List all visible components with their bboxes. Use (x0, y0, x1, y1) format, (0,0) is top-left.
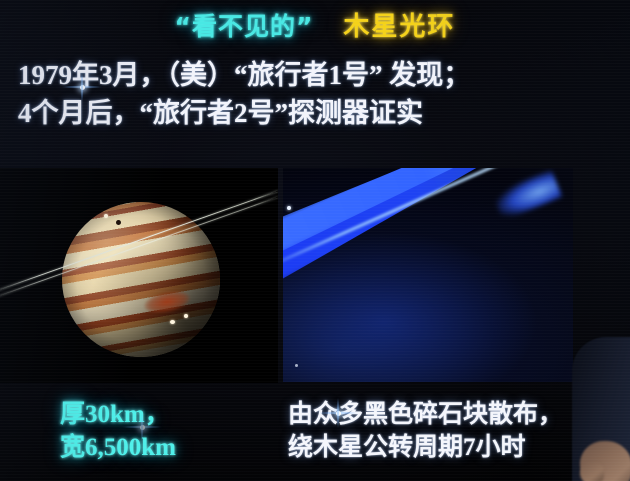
cloud-highlight-dot-3 (184, 314, 188, 318)
jupiter-caption: 厚30km， 宽6,500km (60, 398, 176, 464)
ring-far-tip (492, 169, 563, 221)
body-line-2: 4个月后，“旅行者2号”探测器证实 (18, 94, 618, 132)
slide-title: “看不见的”木星光环 (0, 6, 630, 43)
jupiter-caption-line-2: 宽6,500km (60, 431, 176, 464)
cloud-highlight-dot-2 (170, 320, 175, 324)
title-main-segment: 木星光环 (343, 12, 455, 42)
presentation-slide: “看不见的”木星光环 1979年3月，（美）“旅行者1号” 发现； 4个月后，“… (0, 0, 630, 481)
background-star-2 (295, 364, 298, 367)
moon-shadow-dot (116, 220, 121, 225)
ring-caption-line-1: 由众多黑色碎石块散布， (288, 398, 563, 431)
ring-caption-line-2: 绕木星公转周期7小时 (288, 431, 563, 464)
cloud-highlight-dot-1 (104, 214, 108, 218)
slide-body-text: 1979年3月，（美）“旅行者1号” 发现； 4个月后，“旅行者2号”探测器证实 (18, 56, 618, 132)
ring-caption: 由众多黑色碎石块散布， 绕木星公转周期7小时 (288, 398, 563, 464)
title-quoted-segment: “看不见的” (175, 12, 314, 41)
background-star-1 (287, 206, 291, 210)
jupiter-caption-line-1: 厚30km， (60, 398, 176, 431)
body-line-1: 1979年3月，（美）“旅行者1号” 发现； (18, 56, 618, 94)
voyager-jupiter-ring-photo (283, 168, 573, 382)
jupiter-with-rings-photo (0, 168, 278, 383)
